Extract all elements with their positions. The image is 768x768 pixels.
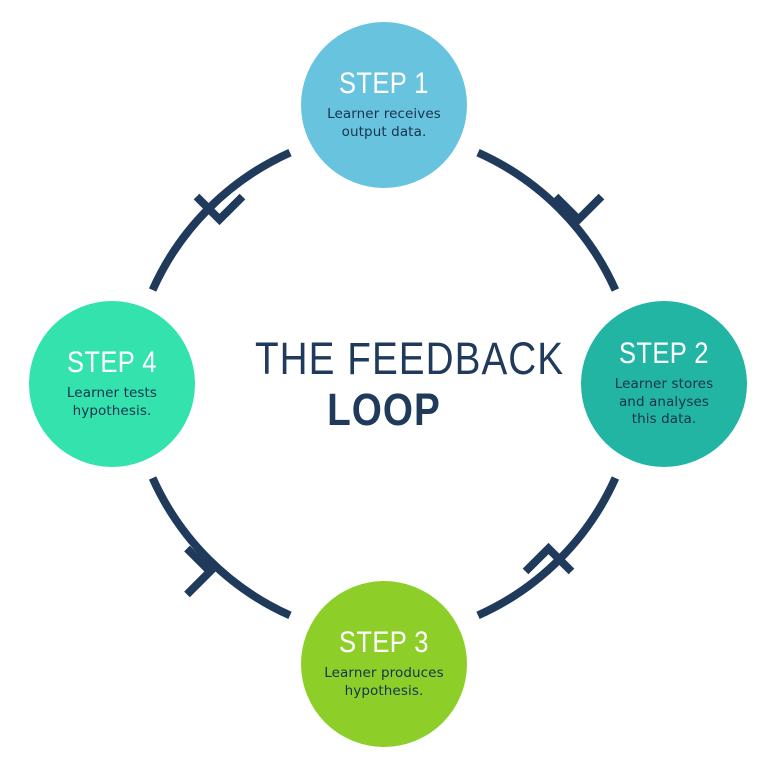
arc-step1-to-step2 — [478, 153, 615, 290]
step-2-description-line: this data. — [615, 411, 713, 429]
step-4-label: STEP 4 — [67, 348, 157, 378]
step-3-description-line: hypothesis. — [324, 683, 443, 701]
step-4-description-line: Learner tests — [67, 385, 157, 403]
step-1-label: STEP 1 — [339, 69, 429, 99]
step-2-label: STEP 2 — [619, 339, 709, 369]
step-node-2[interactable]: STEP 2 Learner stores and analyses this … — [581, 301, 747, 467]
step-3-label: STEP 3 — [339, 628, 429, 658]
step-node-3[interactable]: STEP 3 Learner produces hypothesis. — [301, 581, 467, 747]
step-1-description-line: output data. — [327, 124, 441, 142]
step-2-description: Learner stores and analyses this data. — [615, 376, 713, 429]
feedback-loop-diagram: THE FEEDBACK LOOP STEP 1 Learner receive… — [0, 0, 768, 768]
step-3-description: Learner produces hypothesis. — [324, 665, 443, 700]
diagram-title-line1: THE FEEDBACK — [255, 336, 513, 381]
arc-step3-to-step4 — [153, 478, 290, 615]
diagram-title: THE FEEDBACK LOOP — [234, 336, 534, 432]
step-1-description-line: Learner receives — [327, 106, 441, 124]
diagram-title-line2: LOOP — [255, 387, 513, 432]
step-2-description-line: Learner stores — [615, 376, 713, 394]
step-4-description: Learner tests hypothesis. — [67, 385, 157, 420]
step-2-description-line: and analyses — [615, 394, 713, 412]
step-node-4[interactable]: STEP 4 Learner tests hypothesis. — [29, 301, 195, 467]
step-1-description: Learner receives output data. — [327, 106, 441, 141]
step-3-description-line: Learner produces — [324, 665, 443, 683]
step-4-description-line: hypothesis. — [67, 403, 157, 421]
step-node-1[interactable]: STEP 1 Learner receives output data. — [301, 22, 467, 188]
